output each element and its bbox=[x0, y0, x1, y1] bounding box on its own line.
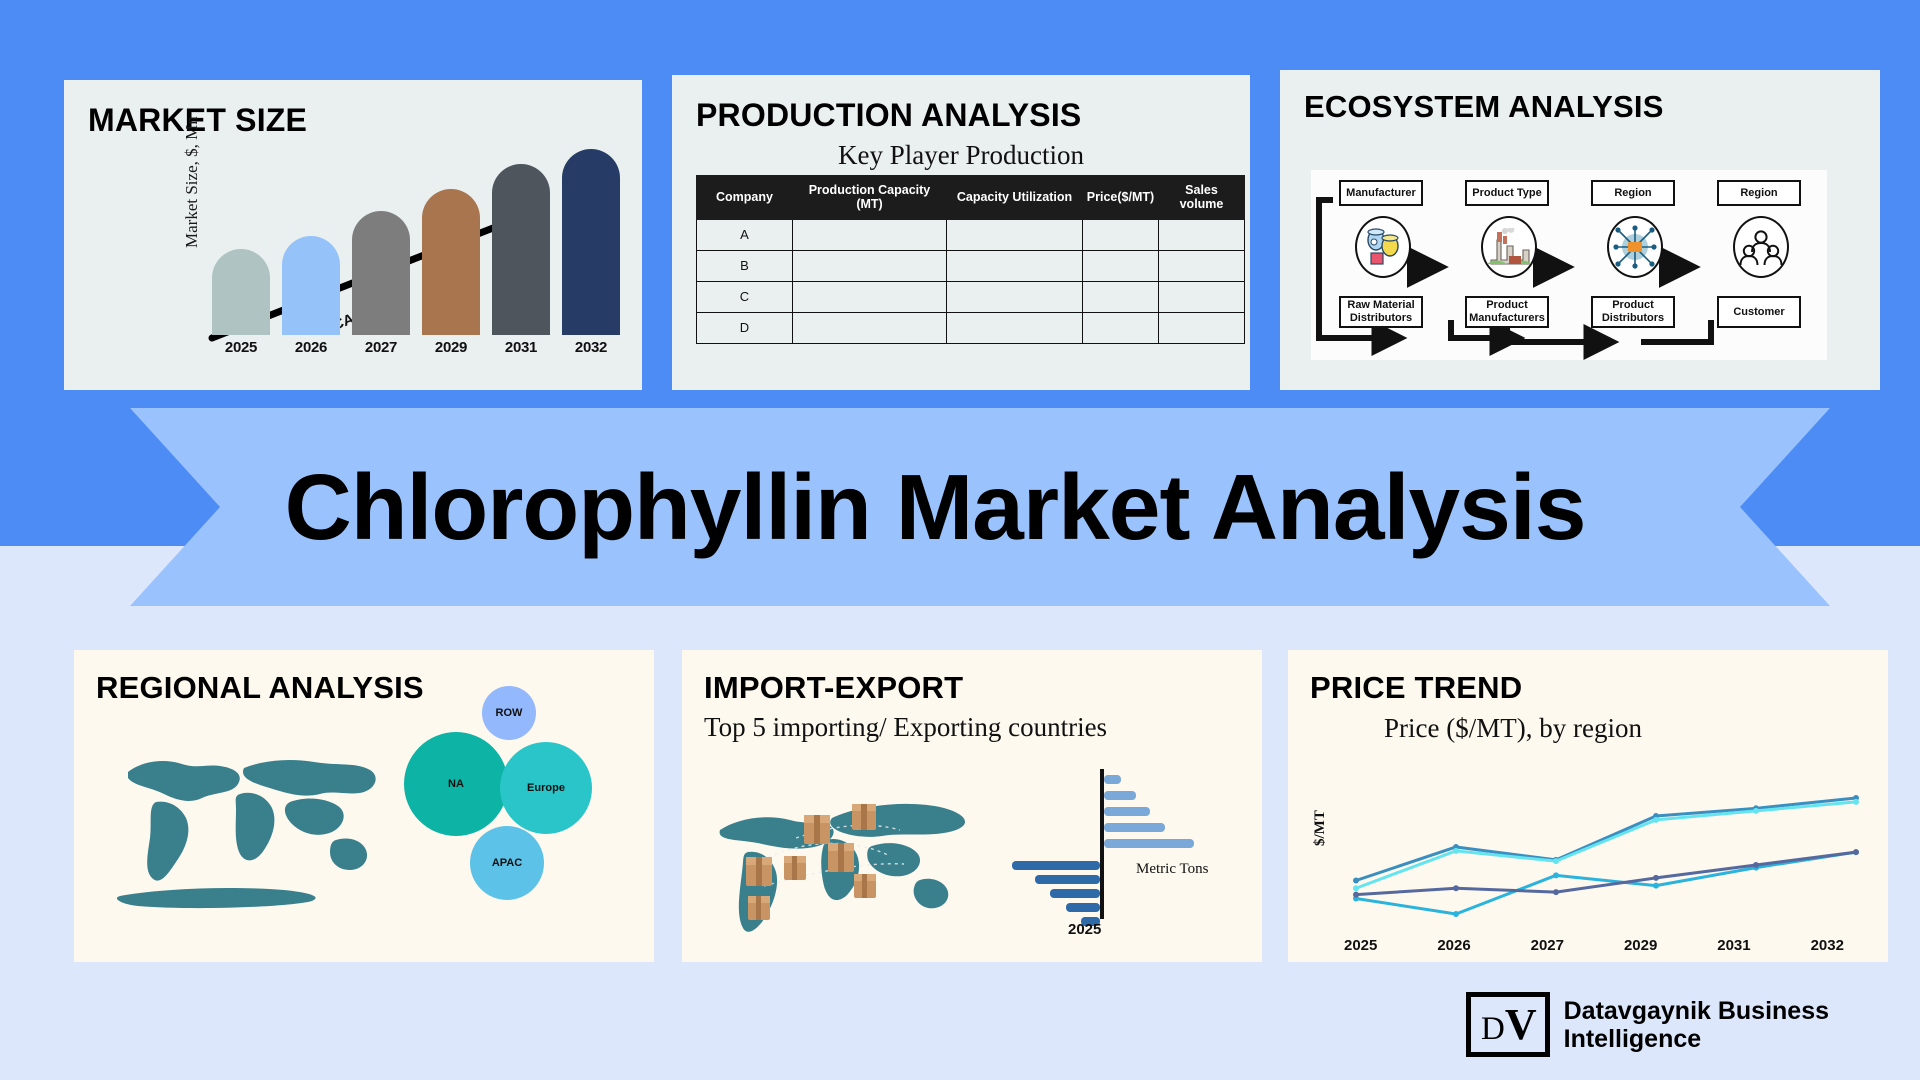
price-trend-subtitle: Price ($/MT), by region bbox=[1288, 712, 1888, 746]
key-player-production-table: CompanyProduction Capacity (MT)Capacity … bbox=[696, 175, 1245, 344]
market-size-bar bbox=[212, 249, 270, 335]
tornado-import-bar bbox=[1050, 889, 1100, 898]
price-trend-data-point bbox=[1653, 817, 1659, 823]
table-cell-company: C bbox=[697, 281, 793, 312]
price-trend-x-axis-labels: 202520262027202920312032 bbox=[1344, 937, 1844, 954]
price-trend-series-line bbox=[1356, 802, 1856, 888]
market-size-bar-group: 2025 bbox=[212, 249, 270, 356]
price-trend-data-point bbox=[1853, 799, 1859, 805]
tornado-export-bar bbox=[1104, 823, 1165, 832]
regional-bubble-europe: Europe bbox=[500, 742, 592, 834]
market-size-year-label: 2031 bbox=[505, 339, 537, 356]
ecosystem-top-node: Region bbox=[1717, 180, 1801, 206]
market-size-bar bbox=[352, 211, 410, 335]
market-size-bar bbox=[492, 164, 550, 335]
page-title: Chlorophyllin Market Analysis bbox=[285, 454, 1586, 561]
price-trend-year-label: 2027 bbox=[1531, 937, 1564, 954]
ecosystem-analysis-card: ECOSYSTEM ANALYSIS ManufacturerProduct T… bbox=[1280, 70, 1880, 390]
market-size-bar-group: 2026 bbox=[282, 236, 340, 356]
ecosystem-bottom-node: Raw Material Distributors bbox=[1339, 296, 1423, 328]
price-trend-series-line bbox=[1356, 852, 1856, 895]
table-cell-sales bbox=[1159, 281, 1245, 312]
ecosystem-analysis-title: ECOSYSTEM ANALYSIS bbox=[1280, 70, 1880, 125]
regional-analysis-card: REGIONAL ANALYSIS NAEuropeAPACROW bbox=[74, 650, 654, 962]
ecosystem-diagram: ManufacturerProduct TypeRegionRegionRaw … bbox=[1311, 170, 1827, 360]
price-trend-data-point bbox=[1853, 849, 1859, 855]
market-size-title: MARKET SIZE bbox=[64, 80, 642, 139]
table-column-header: Production Capacity (MT) bbox=[793, 176, 947, 220]
table-cell-sales bbox=[1159, 312, 1245, 343]
market-size-y-axis-label: Market Size, $, Mn bbox=[182, 116, 202, 248]
regional-bubble-row: ROW bbox=[482, 686, 536, 740]
table-cell-company: D bbox=[697, 312, 793, 343]
price-trend-data-point bbox=[1553, 872, 1559, 878]
price-trend-year-label: 2026 bbox=[1437, 937, 1470, 954]
price-trend-data-point bbox=[1353, 892, 1359, 898]
market-size-card: MARKET SIZE Market Size, $, Mn CAGR 2025… bbox=[64, 80, 642, 390]
market-size-bar bbox=[422, 189, 480, 335]
price-trend-data-point bbox=[1553, 858, 1559, 864]
market-size-bar-group: 2032 bbox=[562, 149, 620, 356]
price-trend-data-point bbox=[1453, 848, 1459, 854]
price-trend-data-point bbox=[1753, 862, 1759, 868]
market-size-year-label: 2027 bbox=[365, 339, 397, 356]
import-export-card: IMPORT-EXPORT Top 5 importing/ Exporting… bbox=[682, 650, 1262, 962]
table-header-row: CompanyProduction Capacity (MT)Capacity … bbox=[697, 176, 1245, 220]
market-size-year-label: 2025 bbox=[225, 339, 257, 356]
market-size-chart: Market Size, $, Mn CAGR 2025202620272029… bbox=[64, 140, 642, 390]
market-size-bar-group: 2027 bbox=[352, 211, 410, 356]
title-ribbon: Chlorophyllin Market Analysis bbox=[40, 408, 1830, 606]
table-cell-price bbox=[1083, 281, 1159, 312]
table-row: C bbox=[697, 281, 1245, 312]
price-trend-card: PRICE TREND Price ($/MT), by region $/MT… bbox=[1288, 650, 1888, 962]
price-trend-data-point bbox=[1353, 877, 1359, 883]
table-column-header: Price($/MT) bbox=[1083, 176, 1159, 220]
table-column-header: Capacity Utilization bbox=[947, 176, 1083, 220]
price-trend-title: PRICE TREND bbox=[1288, 650, 1888, 706]
ecosystem-top-node: Manufacturer bbox=[1339, 180, 1423, 206]
regional-analysis-title: REGIONAL ANALYSIS bbox=[74, 650, 654, 706]
import-export-tornado-chart: Metric Tons 2025 bbox=[1016, 769, 1226, 944]
ecosystem-bottom-node: Customer bbox=[1717, 296, 1801, 328]
price-trend-data-point bbox=[1753, 808, 1759, 814]
production-analysis-card: PRODUCTION ANALYSIS Key Player Productio… bbox=[672, 75, 1250, 390]
logo-line-2: Intelligence bbox=[1564, 1025, 1829, 1053]
import-export-title: IMPORT-EXPORT bbox=[682, 650, 1262, 706]
market-size-year-label: 2032 bbox=[575, 339, 607, 356]
logo-mark: D V bbox=[1466, 992, 1550, 1057]
distribution-network-icon bbox=[1607, 216, 1663, 278]
price-trend-lines bbox=[1344, 778, 1884, 928]
tornado-unit-label: Metric Tons bbox=[1136, 861, 1208, 878]
price-trend-year-label: 2031 bbox=[1717, 937, 1750, 954]
price-trend-y-axis-label: $/MT bbox=[1312, 810, 1329, 846]
tornado-export-bar bbox=[1104, 807, 1150, 816]
logo-letter-v: V bbox=[1505, 999, 1537, 1050]
ecosystem-bottom-node: Product Manufacturers bbox=[1465, 296, 1549, 328]
table-cell-company: B bbox=[697, 250, 793, 281]
import-export-subtitle: Top 5 importing/ Exporting countries bbox=[682, 712, 1262, 743]
price-trend-data-point bbox=[1653, 875, 1659, 881]
trade-flow-map-icon bbox=[704, 768, 984, 943]
table-row: B bbox=[697, 250, 1245, 281]
table-cell-capacity bbox=[793, 312, 947, 343]
table-cell-capacity bbox=[793, 281, 947, 312]
market-size-year-label: 2029 bbox=[435, 339, 467, 356]
price-trend-data-point bbox=[1453, 885, 1459, 891]
regional-bubble-na: NA bbox=[404, 732, 508, 836]
ecosystem-top-node: Region bbox=[1591, 180, 1675, 206]
table-cell-price bbox=[1083, 219, 1159, 250]
market-size-bar bbox=[562, 149, 620, 335]
tornado-import-bar bbox=[1035, 875, 1100, 884]
logo-line-1: Datavgaynik Business bbox=[1564, 997, 1829, 1025]
tornado-export-bar bbox=[1104, 775, 1121, 784]
table-cell-sales bbox=[1159, 219, 1245, 250]
table-column-header: Sales volume bbox=[1159, 176, 1245, 220]
table-cell-utilization bbox=[947, 250, 1083, 281]
tornado-year-label: 2025 bbox=[1068, 921, 1101, 938]
table-column-header: Company bbox=[697, 176, 793, 220]
logo-letter-d: D bbox=[1481, 1011, 1505, 1048]
customer-group-icon bbox=[1733, 216, 1789, 278]
price-trend-chart: $/MT 202520262027202920312032 bbox=[1288, 772, 1888, 962]
table-cell-capacity bbox=[793, 219, 947, 250]
table-row: A bbox=[697, 219, 1245, 250]
price-trend-data-point bbox=[1553, 889, 1559, 895]
table-row: D bbox=[697, 312, 1245, 343]
table-cell-utilization bbox=[947, 281, 1083, 312]
market-size-bar bbox=[282, 236, 340, 335]
market-size-bar-group: 2031 bbox=[492, 164, 550, 356]
price-trend-data-point bbox=[1453, 911, 1459, 917]
ecosystem-top-node: Product Type bbox=[1465, 180, 1549, 206]
regional-bubble-apac: APAC bbox=[470, 826, 544, 900]
factory-icon bbox=[1481, 216, 1537, 278]
table-cell-price bbox=[1083, 312, 1159, 343]
table-cell-sales bbox=[1159, 250, 1245, 281]
price-trend-data-point bbox=[1353, 885, 1359, 891]
table-cell-utilization bbox=[947, 312, 1083, 343]
logo-wordmark: Datavgaynik Business Intelligence bbox=[1564, 997, 1829, 1053]
market-size-year-label: 2026 bbox=[295, 339, 327, 356]
tornado-export-bar bbox=[1104, 839, 1194, 848]
tornado-export-bar bbox=[1104, 791, 1136, 800]
table-cell-utilization bbox=[947, 219, 1083, 250]
price-trend-year-label: 2032 bbox=[1811, 937, 1844, 954]
price-trend-year-label: 2029 bbox=[1624, 937, 1657, 954]
production-subtitle: Key Player Production bbox=[672, 140, 1250, 171]
table-body: ABCD bbox=[697, 219, 1245, 343]
tornado-import-bar bbox=[1012, 861, 1100, 870]
table-cell-capacity bbox=[793, 250, 947, 281]
barrels-icon bbox=[1355, 216, 1411, 278]
price-trend-year-label: 2025 bbox=[1344, 937, 1377, 954]
table-cell-company: A bbox=[697, 219, 793, 250]
table-cell-price bbox=[1083, 250, 1159, 281]
price-trend-data-point bbox=[1653, 883, 1659, 889]
company-logo: D V Datavgaynik Business Intelligence bbox=[1466, 992, 1829, 1057]
world-map-icon bbox=[94, 728, 394, 918]
production-analysis-title: PRODUCTION ANALYSIS bbox=[672, 75, 1250, 134]
ecosystem-bottom-node: Product Distributors bbox=[1591, 296, 1675, 328]
tornado-import-bar bbox=[1066, 903, 1100, 912]
market-size-bars: 202520262027202920312032 bbox=[212, 156, 612, 356]
market-size-bar-group: 2029 bbox=[422, 189, 480, 356]
